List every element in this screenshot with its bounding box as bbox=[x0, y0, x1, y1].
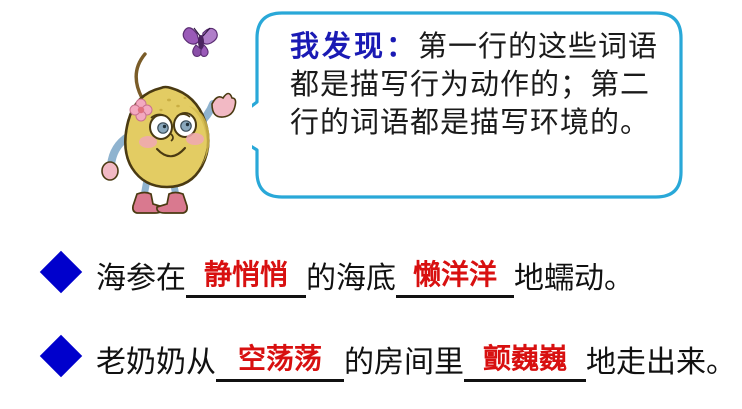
sentence-2-blank-1[interactable]: 空荡荡 bbox=[216, 343, 344, 382]
diamond-bullet-1 bbox=[40, 251, 82, 293]
sentence-text-1: 海参在 静悄悄 的海底 懒洋洋 地蠕动。 bbox=[96, 259, 634, 298]
exercise-row-2: 老奶奶从 空荡荡 的房间里 颤巍巍 地走出来。 bbox=[40, 322, 740, 382]
sentence-1-segment-1: 海参在 bbox=[96, 260, 186, 298]
left-hand bbox=[102, 162, 118, 180]
diamond-bullet-2 bbox=[40, 335, 82, 377]
sentence-1-answer-2: 懒洋洋 bbox=[413, 256, 497, 294]
sentence-2-segment-2: 的房间里 bbox=[344, 344, 464, 382]
sentence-1-blank-1[interactable]: 静悄悄 bbox=[186, 259, 306, 298]
left-cheek bbox=[139, 136, 157, 148]
right-boot bbox=[157, 193, 187, 214]
sentence-1-answer-1: 静悄悄 bbox=[204, 256, 288, 294]
pear-mascot-illustration bbox=[85, 18, 255, 218]
sentence-2-blank-2[interactable]: 颤巍巍 bbox=[464, 343, 586, 382]
sentence-2-segment-3: 地走出来。 bbox=[586, 344, 736, 382]
right-cheek bbox=[186, 133, 204, 145]
sentence-2-answer-2: 颤巍巍 bbox=[483, 340, 567, 378]
sentence-1-segment-2: 的海底 bbox=[306, 260, 396, 298]
sentence-2-answer-1: 空荡荡 bbox=[238, 340, 322, 378]
sentence-1-segment-3: 地蠕动。 bbox=[514, 260, 634, 298]
speech-bubble-lead: 我发现： bbox=[290, 31, 418, 63]
speech-bubble-text: 我发现：第一行的这些词语都是描写行为动作的；第二行的词语都是描写环境的。 bbox=[290, 28, 674, 142]
exercise-row-1: 海参在 静悄悄 的海底 懒洋洋 地蠕动。 bbox=[40, 238, 740, 298]
butterfly-icon bbox=[183, 28, 217, 57]
sentence-text-2: 老奶奶从 空荡荡 的房间里 颤巍巍 地走出来。 bbox=[96, 343, 736, 382]
speech-bubble: 我发现：第一行的这些词语都是描写行为动作的；第二行的词语都是描写环境的。 bbox=[252, 10, 684, 200]
sentence-1-blank-2[interactable]: 懒洋洋 bbox=[396, 259, 514, 298]
right-hand bbox=[212, 94, 236, 118]
sentence-2-segment-1: 老奶奶从 bbox=[96, 344, 216, 382]
